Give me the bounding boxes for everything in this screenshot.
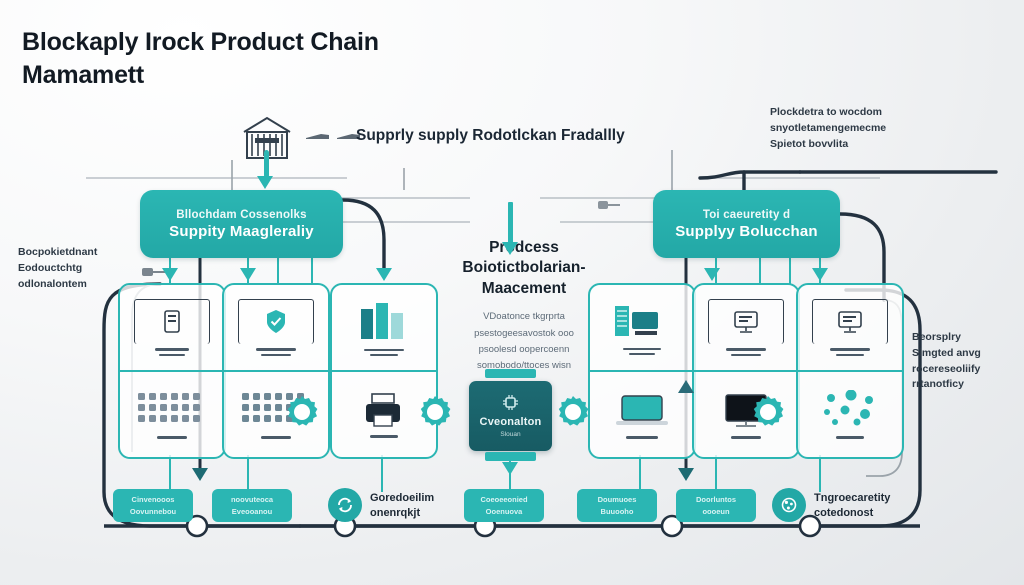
header-left-main: Suppity Maagleraliy xyxy=(169,223,314,240)
annotation-line: rocereseoliify xyxy=(912,362,1022,378)
sync-icon[interactable] xyxy=(328,488,362,522)
bottom-pill-2[interactable]: noovuteoca Eveooanou xyxy=(212,489,292,522)
bottom-pill-1[interactable]: Cinvenooos Oovunnebou xyxy=(113,489,193,522)
diagram-canvas: Blockaply Irock Product Chain Mamamett xyxy=(0,0,1024,585)
panel-arrow-down-icon xyxy=(812,268,828,281)
warehouse-stem xyxy=(264,150,269,178)
annotation-right: Beorsplry Simgted anvg rocereseoliify rr… xyxy=(912,330,1022,393)
annotation-line: Eodouctchtg xyxy=(18,261,148,277)
panel-r2[interactable] xyxy=(692,283,800,459)
panel-text-lines xyxy=(836,436,864,438)
annotation-line: snyotletamengemecme xyxy=(770,121,920,137)
server-rack-icon xyxy=(605,300,679,344)
panel-arrow-down-icon xyxy=(162,268,178,281)
baseline-arrow-icon xyxy=(678,468,694,481)
header-box-right[interactable]: Toi caeuretity d Supplyy Bolucchan xyxy=(653,190,840,258)
plate-cap-top xyxy=(485,369,536,378)
panel-cell-top xyxy=(120,285,224,370)
panel-arrow-down-icon xyxy=(376,268,392,281)
left-header-curve xyxy=(343,200,384,268)
annotation-line: Spietot bovvlita xyxy=(770,137,920,153)
annotation-line: Beorsplry xyxy=(912,330,1022,346)
center-heading: Prodcess Boiotictbolarian- Maacement xyxy=(444,238,604,299)
header-stems xyxy=(232,150,672,190)
shield-check-icon xyxy=(238,299,314,344)
bottom-pill-4[interactable]: Doumuoes Buuooho xyxy=(577,489,657,522)
annotation-line: rrtanotficy xyxy=(912,377,1022,393)
panel-text-lines xyxy=(626,436,658,438)
node-label-line: Tngroecaretity xyxy=(814,491,934,506)
gear-icon[interactable] xyxy=(751,395,785,429)
monitor-text-icon xyxy=(708,299,784,344)
pill-line1: Coeoeeonied xyxy=(480,494,527,505)
document-card-icon xyxy=(134,299,210,344)
icon-grid xyxy=(135,390,209,432)
pill-line1: Cinvenooos xyxy=(132,494,175,505)
panel-arrow-down-icon xyxy=(240,268,256,281)
header-right-main: Supplyy Bolucchan xyxy=(675,223,818,240)
node-label-line: Goredoeilim xyxy=(370,491,480,506)
panel-text-lines xyxy=(261,436,291,438)
panel-cell-top xyxy=(798,285,902,370)
pill-line1: Doumuoes xyxy=(598,494,637,505)
traceable-icon[interactable] xyxy=(772,488,806,522)
center-arrow-down-icon xyxy=(502,242,518,255)
truck-icon xyxy=(305,128,331,144)
plug-icon xyxy=(596,196,622,216)
center-plate[interactable]: Cveonalton Slouan xyxy=(469,381,552,451)
panel-text-lines xyxy=(830,348,870,356)
panel-r3[interactable] xyxy=(796,283,904,459)
pill-line2: Eveooanou xyxy=(232,506,272,517)
center-stem xyxy=(508,202,513,244)
annotation-line: Bocpokietdnant xyxy=(18,245,148,261)
traceable-node-label: Tngroecaretity cotedonost xyxy=(814,491,934,521)
panel-arrow-up-icon xyxy=(678,380,694,393)
panel-cell-bottom xyxy=(120,372,224,457)
header-right-sub: Toi caeuretity d xyxy=(703,209,790,221)
panel-text-lines xyxy=(364,349,404,357)
center-text-block: Prodcess Boiotictbolarian- Maacement VDo… xyxy=(444,238,604,375)
gear-icon[interactable] xyxy=(556,395,590,429)
panel-text-lines xyxy=(157,436,187,438)
panel-l1[interactable] xyxy=(118,283,226,459)
panel-cell-bottom xyxy=(798,372,902,457)
sync-node-label: Goredoeilim onenrqkjt xyxy=(370,491,480,521)
panel-l2[interactable] xyxy=(222,283,330,459)
plate-title: Cveonalton xyxy=(480,416,542,428)
printer-icon xyxy=(359,391,409,431)
panel-r1[interactable] xyxy=(588,283,696,459)
bottom-pill-5[interactable]: Doorluntos oooeun xyxy=(676,489,756,522)
panel-text-lines xyxy=(256,348,296,356)
warehouse-arrow-icon xyxy=(257,176,273,189)
center-body-line: psestogeesavostok ooo xyxy=(444,326,604,342)
panel-l3[interactable] xyxy=(330,283,438,459)
baseline-arrow-icon xyxy=(502,462,518,475)
pill-line2: Buuooho xyxy=(601,506,634,517)
plate-subtitle: Slouan xyxy=(500,431,520,438)
laptop-icon xyxy=(612,390,672,432)
pill-line2: Oovunnebou xyxy=(130,506,176,517)
plate-cap-bottom xyxy=(485,452,536,461)
center-heading-line: Boiotictbolarian- xyxy=(444,258,604,278)
outer-route-topright xyxy=(700,172,996,190)
panel-cell-top xyxy=(224,285,328,370)
panel-cell-top xyxy=(694,285,798,370)
center-body-line: psoolesd oopercoenn xyxy=(444,342,604,358)
node-label-line: cotedonost xyxy=(814,506,934,521)
baseline-arrow-icon xyxy=(192,468,208,481)
gear-icon[interactable] xyxy=(418,395,452,429)
network-dots-icon xyxy=(817,390,883,432)
annotation-line: Simgted anvg xyxy=(912,346,1022,362)
panel-text-lines xyxy=(726,348,766,356)
monitor-text-icon xyxy=(812,299,888,344)
center-body-line: VDoatonce tkgrprta xyxy=(444,309,604,325)
header-box-left[interactable]: Bllochdam Cossenolks Suppity Maagleraliy xyxy=(140,190,343,258)
pill-line1: noovuteoca xyxy=(231,494,273,505)
center-body: VDoatonce tkgrprta psestogeesavostok ooo… xyxy=(444,309,604,374)
annotation-top-right: Plockdetra to wocdom snyotletamengemecme… xyxy=(770,105,920,152)
panel-arrow-down-icon xyxy=(704,268,720,281)
panel-text-lines xyxy=(731,436,761,438)
pill-line2: oooeun xyxy=(702,506,729,517)
node-label-line: onenrqkjt xyxy=(370,506,480,521)
panel-text-lines xyxy=(623,348,661,356)
bar-chart-icon xyxy=(349,299,419,345)
annotation-line: Plockdetra to wocdom xyxy=(770,105,920,121)
header-left-sub: Bllochdam Cossenolks xyxy=(176,209,307,221)
center-heading-line: Maacement xyxy=(444,279,604,299)
pill-line2: Ooenuova xyxy=(486,506,523,517)
gear-icon[interactable] xyxy=(285,395,319,429)
banner-label: Supprly supply Rodotlckan Fradallly xyxy=(356,127,646,145)
panel-text-lines xyxy=(155,348,189,356)
pill-line1: Doorluntos xyxy=(696,494,736,505)
panel-cell-top xyxy=(332,285,436,370)
panel-text-lines xyxy=(370,435,398,437)
center-heading-line: Prodcess xyxy=(444,238,604,258)
panel-cell-top xyxy=(590,285,694,370)
chip-icon xyxy=(502,394,519,411)
